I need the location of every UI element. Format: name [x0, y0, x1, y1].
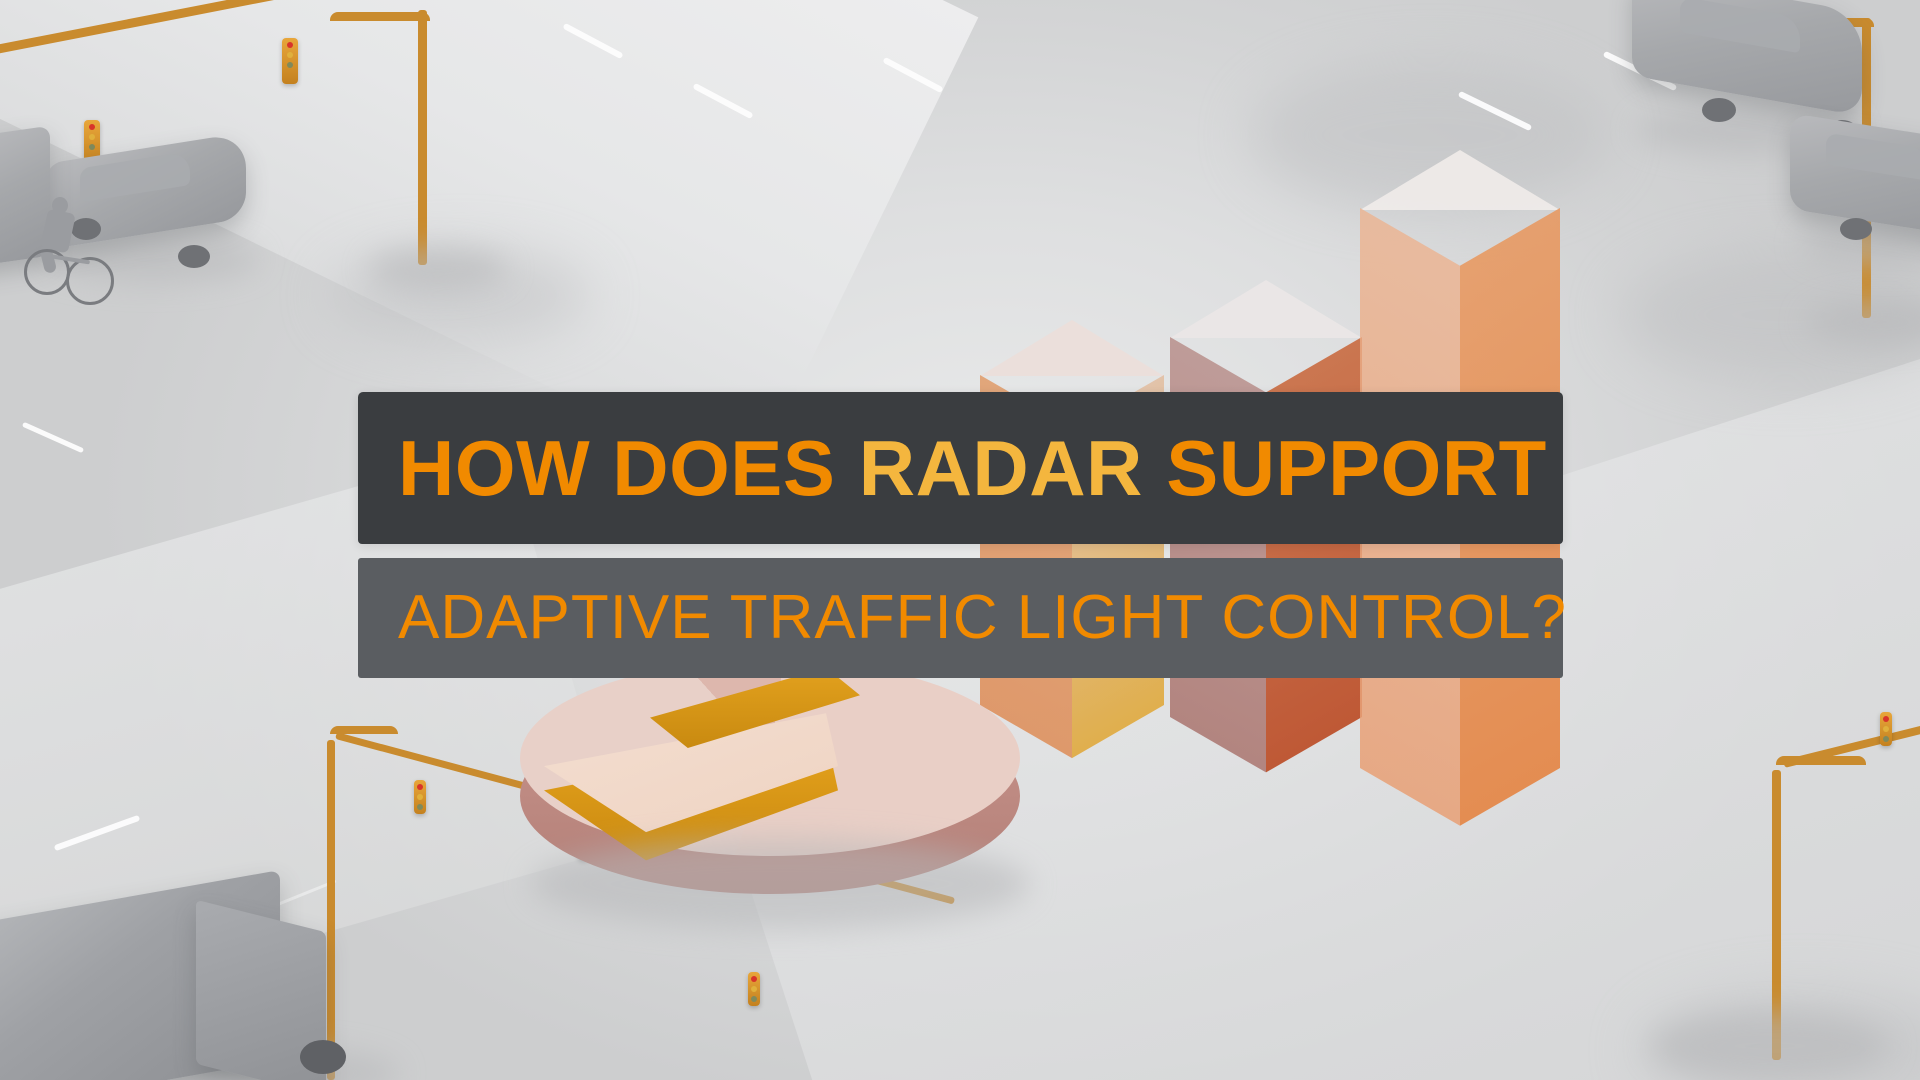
title-banner-primary: HOW DOESRADARSUPPORT: [358, 392, 1563, 544]
traffic-light-yellow-lamp: [751, 986, 757, 992]
page-subtitle: ADAPTIVE TRAFFIC LIGHT CONTROL?: [398, 587, 1567, 649]
traffic-light-green-lamp: [751, 996, 757, 1002]
pole-base-shadow: [1650, 1012, 1890, 1080]
title-banner-secondary: ADAPTIVE TRAFFIC LIGHT CONTROL?: [358, 558, 1563, 678]
truck-wheel: [300, 1040, 346, 1074]
3d-pie-chart: [520, 660, 1040, 910]
bar-top-face: [980, 320, 1164, 376]
traffic-light: [1880, 712, 1892, 746]
traffic-light-green-lamp: [1883, 736, 1889, 742]
car-wheel: [1702, 98, 1736, 122]
car-windshield: [1826, 133, 1920, 181]
traffic-light: [748, 972, 760, 1006]
slide-canvas: HOW DOESRADARSUPPORT ADAPTIVE TRAFFIC LI…: [0, 0, 1920, 1080]
cyclist-left: [22, 195, 114, 303]
pole-base-shadow: [368, 248, 508, 290]
car-body: [1632, 0, 1862, 116]
car-windshield: [1680, 0, 1800, 53]
traffic-light-red-lamp: [751, 976, 757, 982]
bar-top-face: [1170, 280, 1362, 338]
traffic-light: [414, 780, 426, 814]
traffic-light: [282, 38, 298, 84]
gantry-elbow: [330, 12, 430, 21]
title-word-group-1: HOW DOES: [398, 424, 835, 512]
traffic-light-yellow-lamp: [89, 134, 95, 140]
gantry-pole: [327, 740, 335, 1080]
bar-top-face: [1360, 150, 1560, 210]
traffic-light-green-lamp: [287, 62, 293, 68]
traffic-light-yellow-lamp: [417, 794, 423, 800]
traffic-light-red-lamp: [1883, 716, 1889, 722]
gantry-pole: [418, 10, 427, 265]
traffic-light-red-lamp: [417, 784, 423, 790]
title-word-radar: RADAR: [859, 424, 1143, 512]
traffic-light-yellow-lamp: [287, 52, 293, 58]
traffic-light-yellow-lamp: [1883, 726, 1889, 732]
page-title: HOW DOESRADARSUPPORT: [398, 429, 1547, 507]
pie-shadow: [530, 838, 1030, 930]
traffic-light-green-lamp: [89, 144, 95, 150]
traffic-light-red-lamp: [287, 42, 293, 48]
traffic-light-green-lamp: [417, 804, 423, 810]
car-wheel: [178, 245, 210, 268]
bicycle-wheel: [66, 257, 114, 305]
traffic-light-red-lamp: [89, 124, 95, 130]
title-word-support: SUPPORT: [1166, 424, 1547, 512]
lane-dash: [22, 422, 84, 453]
car-wheel: [1840, 218, 1872, 240]
